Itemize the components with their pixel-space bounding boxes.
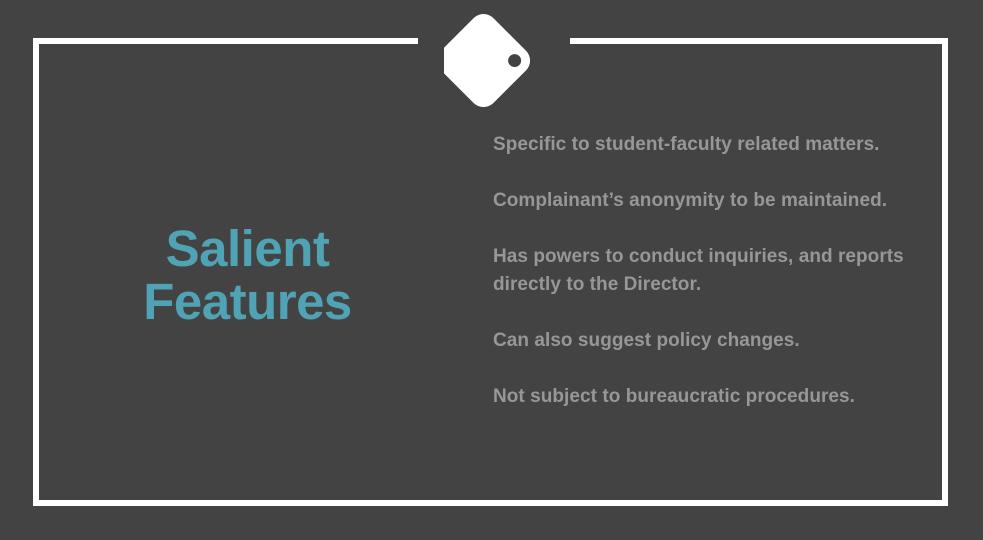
list-item: Not subject to bureaucratic procedures. (493, 383, 923, 411)
list-item: Has powers to conduct inquiries, and rep… (493, 243, 923, 299)
list-item: Can also suggest policy changes. (493, 327, 923, 355)
frame-border-top-right (570, 38, 948, 44)
page-title-line-1: Salient (60, 222, 435, 275)
price-tag-icon (444, 14, 540, 110)
frame-border-right (942, 38, 948, 506)
frame-border-bottom (33, 500, 948, 506)
page-title: Salient Features (60, 222, 435, 328)
frame-border-left (33, 38, 39, 506)
list-item: Complainant’s anonymity to be maintained… (493, 187, 923, 215)
page-title-line-2: Features (60, 275, 435, 328)
presentation-slide: Salient Features Specific to student-fac… (0, 0, 983, 540)
feature-list: Specific to student-faculty related matt… (493, 131, 923, 411)
list-item: Specific to student-faculty related matt… (493, 131, 923, 159)
frame-border-top-left (33, 38, 418, 44)
